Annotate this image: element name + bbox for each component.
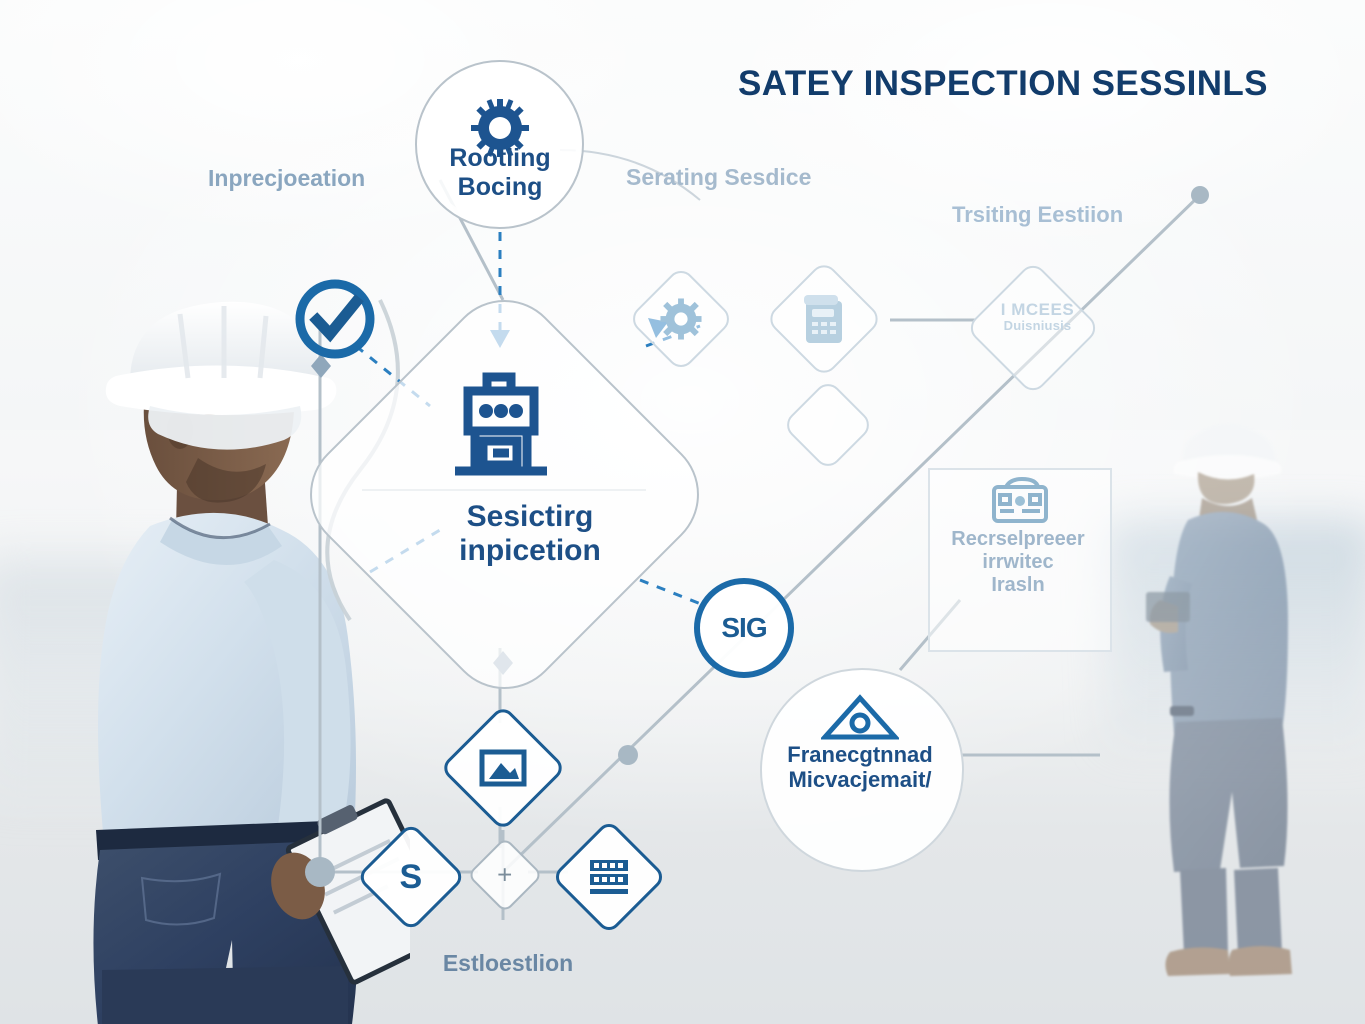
center-node-line1: Sesictirg: [467, 500, 594, 533]
image-icon: [479, 749, 527, 787]
left-side-label: Inprecjoeation: [208, 165, 365, 191]
server-rack-icon: [588, 858, 630, 896]
node-franecgtnnad-label: Franecgtnnad Micvacjemait/: [760, 742, 960, 792]
plus-icon: +: [497, 862, 512, 888]
gear-icon: [659, 297, 703, 341]
center-node-line2: inpicetion: [459, 534, 601, 567]
proc-line2: Micvacjemait/: [788, 767, 931, 792]
trsiting-label: Trsiting Eestiion: [952, 202, 1123, 227]
proc-line1: Franecgtnnad: [787, 742, 932, 767]
top-node-line1: Rootiing: [449, 144, 550, 172]
bottom-label: Estloestlion: [408, 950, 608, 976]
triangle-alert-icon: [820, 690, 900, 744]
check-circle-icon[interactable]: [292, 276, 378, 362]
sig-badge[interactable]: SIG: [694, 578, 794, 678]
node-machinery-label: Recrselpreeer irrwitec Irasln: [928, 528, 1108, 596]
machinery-icon: [980, 470, 1060, 530]
top-node-line2: Bocing: [458, 173, 543, 201]
sig-badge-label: SIG: [721, 612, 766, 644]
node-mcees-label: I MCEES Duisniusis: [975, 300, 1100, 334]
mcees-sub: Duisniusis: [975, 319, 1100, 334]
calculator-icon: [802, 293, 846, 345]
s-badge-label: S: [400, 858, 423, 897]
factory-building-icon: [436, 360, 566, 490]
right-side-label: Serating Sesdice: [626, 164, 811, 190]
node-sesictirg-inpicetion-label: Sesictirg inpicetion: [390, 500, 670, 568]
recr-line1: Recrselpreeer: [951, 528, 1084, 550]
node-rootiing-bocing-label: Rootiing Bocing: [415, 144, 585, 201]
page-title: SATEY INSPECTION SESSINLS: [738, 64, 1268, 104]
mcees-main: I MCEES: [1001, 300, 1074, 319]
infographic-canvas: Rootiing Bocing Inprecjoeation Serating …: [0, 0, 1365, 1024]
recr-line3: Irasln: [991, 574, 1044, 596]
recr-line2: irrwitec: [982, 551, 1053, 573]
